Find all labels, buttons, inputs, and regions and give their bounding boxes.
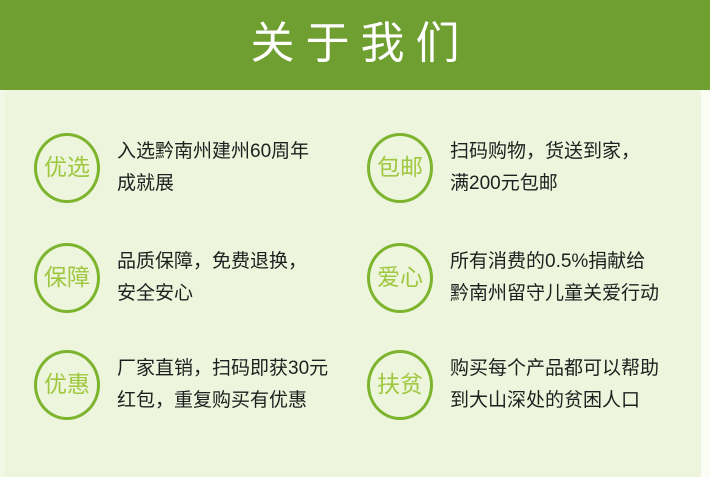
badge-label: 保障 [44, 266, 90, 289]
page-title: 关于我们 [240, 22, 471, 66]
feature-description: 扫码购物，货送到家， 满200元包邮 [450, 136, 640, 200]
feature-description-line: 品质保障，免费退换， [117, 246, 307, 278]
badge-label: 爱心 [377, 266, 423, 289]
feature-grid: 优选 入选黔南州建州60周年 成就展 包邮 扫码购物，货送到家， 满200元包邮… [0, 90, 710, 477]
badge-label: 优选 [44, 156, 90, 179]
feature-description-line: 到大山深处的贫困人口 [450, 385, 659, 417]
feature-description-line: 入选黔南州建州60周年 [117, 136, 309, 168]
feature-description-line: 安全安心 [117, 278, 307, 310]
feature-description: 购买每个产品都可以帮助 到大山深处的贫困人口 [450, 353, 659, 417]
feature-description: 入选黔南州建州60周年 成就展 [117, 136, 309, 200]
badge-label: 包邮 [377, 156, 423, 179]
feature-description-line: 购买每个产品都可以帮助 [450, 353, 659, 385]
badge-circle-baozhang: 保障 [34, 243, 100, 313]
badge-circle-baoyou: 包邮 [367, 133, 433, 203]
feature-item-fupin: 扶贫 购买每个产品都可以帮助 到大山深处的贫困人口 [367, 335, 697, 435]
feature-description: 所有消费的0.5%捐献给 黔南州留守儿童关爱行动 [450, 246, 659, 310]
about-us-page: 关于我们 优选 入选黔南州建州60周年 成就展 包邮 扫码购物，货送到家， 满2… [0, 0, 710, 477]
badge-label: 扶贫 [377, 373, 423, 396]
feature-description-line: 所有消费的0.5%捐献给 [450, 246, 659, 278]
badge-circle-aixin: 爱心 [367, 243, 433, 313]
feature-description-line: 满200元包邮 [450, 168, 640, 200]
badge-circle-youhui: 优惠 [34, 350, 100, 420]
badge-label: 优惠 [44, 373, 90, 396]
badge-circle-fupin: 扶贫 [367, 350, 433, 420]
badge-circle-youxuan: 优选 [34, 133, 100, 203]
feature-description-line: 成就展 [117, 168, 309, 200]
feature-item-aixin: 爱心 所有消费的0.5%捐献给 黔南州留守儿童关爱行动 [367, 228, 697, 328]
feature-item-baoyou: 包邮 扫码购物，货送到家， 满200元包邮 [367, 118, 697, 218]
feature-description-line: 黔南州留守儿童关爱行动 [450, 278, 659, 310]
feature-item-youhui: 优惠 厂家直销，扫码即获30元 红包，重复购买有优惠 [34, 335, 364, 435]
feature-description-line: 扫码购物，货送到家， [450, 136, 640, 168]
feature-item-baozhang: 保障 品质保障，免费退换， 安全安心 [34, 228, 364, 328]
feature-description: 品质保障，免费退换， 安全安心 [117, 246, 307, 310]
feature-description-line: 厂家直销，扫码即获30元 [117, 353, 328, 385]
feature-description: 厂家直销，扫码即获30元 红包，重复购买有优惠 [117, 353, 328, 417]
feature-item-youxuan: 优选 入选黔南州建州60周年 成就展 [34, 118, 364, 218]
page-header-banner: 关于我们 [0, 0, 710, 90]
feature-description-line: 红包，重复购买有优惠 [117, 385, 328, 417]
